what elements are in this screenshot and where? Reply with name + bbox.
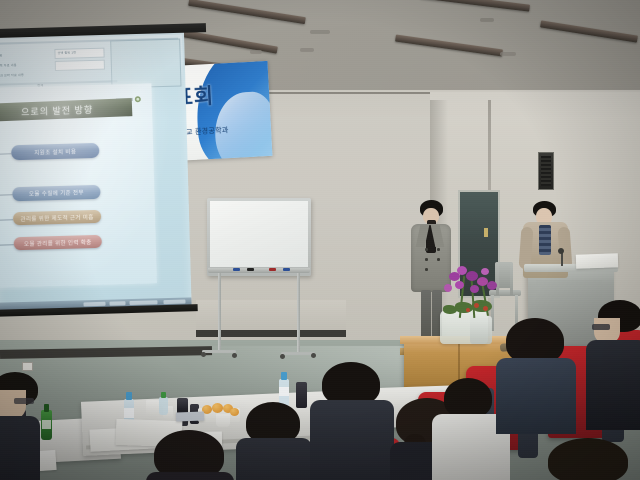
foliage — [443, 305, 457, 314]
podium-papers — [576, 253, 618, 268]
speaker-grille — [541, 156, 551, 186]
flower-vase — [470, 316, 492, 344]
ceiling-light-fixture — [420, 0, 530, 12]
projection-screen[interactable]: 항목 입력 자료 내용 결과 요약 자료 내용 선택 항목 1번 합계 — [0, 30, 198, 325]
whiteboard-frame — [207, 198, 311, 276]
orange-fruit — [212, 403, 223, 413]
dark-beverage-can[interactable] — [296, 382, 307, 408]
whiteboard-surface[interactable] — [210, 201, 308, 267]
coat-button — [437, 248, 440, 251]
app-row-label: 입력 자료 내용 — [0, 63, 17, 68]
flow-connector — [0, 244, 14, 246]
orchid-bloom — [470, 285, 479, 293]
ceiling-vent — [500, 52, 516, 56]
presentation-slide: 으로의 발전 방향 지원조 설치 비용 오물 수질에 기준 전무 관리를 위한 … — [0, 83, 157, 287]
app-field-label: 선택 항목 1번 — [57, 50, 76, 55]
ceiling-vent — [480, 18, 494, 22]
person-torso — [0, 416, 40, 480]
ceiling-light-fixture — [178, 29, 278, 53]
coat-button — [425, 248, 428, 251]
coat-button — [425, 258, 428, 261]
person-torso — [496, 358, 576, 434]
eyeglasses-on-table — [176, 412, 204, 422]
red-accent-flower — [483, 306, 488, 311]
whiteboard-leg — [297, 273, 300, 355]
eyeglasses — [592, 324, 610, 330]
flow-connector — [0, 153, 11, 155]
eyeglasses — [14, 398, 34, 404]
slide-title: 으로의 발전 방향 — [21, 102, 93, 118]
paper-cup[interactable] — [216, 414, 230, 427]
ceiling-light-fixture — [188, 0, 306, 24]
flow-connector — [0, 219, 13, 221]
organization-logo-icon — [116, 90, 142, 98]
flow-box: 관리를 위한 제도적 근거 미흡 — [13, 210, 101, 225]
projected-image-area: 항목 입력 자료 내용 결과 요약 자료 내용 선택 항목 1번 합계 — [0, 30, 192, 310]
orange-fruit — [230, 408, 239, 416]
orchid-bloom — [455, 281, 464, 289]
ceiling-vent — [310, 30, 330, 34]
whiteboard-foot — [281, 352, 315, 355]
person-leg — [421, 290, 431, 342]
person-hair — [548, 438, 628, 480]
person-hair — [444, 378, 492, 418]
chair-frame — [510, 263, 513, 295]
slide-title-bar: 으로의 발전 방향 — [0, 98, 132, 122]
whiteboard-foot — [202, 350, 236, 353]
person-torso — [586, 340, 640, 430]
flow-box: 오물 수질에 기준 전무 — [12, 185, 100, 201]
whiteboard-caster — [201, 352, 206, 357]
person-torso — [146, 472, 234, 480]
app-row-label: 항목 — [0, 54, 3, 58]
whiteboard-caster — [232, 353, 237, 358]
ceiling-vent — [250, 50, 262, 54]
orchid-bloom — [481, 268, 489, 275]
wall-outlet — [22, 362, 33, 371]
flow-box: 지원조 설치 비용 — [11, 143, 99, 160]
ceiling-vent — [300, 48, 314, 52]
marker-red[interactable] — [269, 268, 276, 271]
coat-button — [437, 258, 440, 261]
foliage — [455, 302, 473, 313]
chair-frame — [496, 263, 499, 295]
flow-connector — [0, 194, 12, 196]
marker-blue[interactable] — [283, 268, 290, 271]
background-app-window: 항목 입력 자료 내용 결과 요약 자료 내용 선택 항목 1번 합계 — [0, 34, 183, 91]
red-accent-flower — [474, 303, 479, 308]
flow-box: 오물 관리를 위한 인력 확충 — [14, 235, 102, 250]
person-torso — [310, 400, 394, 480]
coat-button — [425, 268, 428, 271]
whiteboard-marker-tray — [208, 268, 310, 273]
striped-inner-shirt — [539, 225, 551, 255]
presentation-hall-photo: 항목 입력 자료 내용 결과 요약 자료 내용 선택 항목 1번 합계 — [0, 0, 640, 480]
whiteboard-caster — [280, 354, 285, 359]
ceiling-light-fixture — [395, 35, 503, 57]
person-torso — [236, 438, 312, 480]
red-accent-flower — [466, 308, 470, 312]
app-row-label: 결과 요약 자료 내용 — [0, 73, 24, 78]
orchid-bloom — [444, 284, 452, 292]
door-handle[interactable] — [484, 228, 488, 237]
microphone-head-icon — [558, 248, 564, 254]
whiteboard-leg — [218, 273, 221, 353]
marker-black[interactable] — [247, 268, 254, 271]
paper-cup[interactable] — [146, 400, 159, 418]
orchid-bloom — [487, 281, 497, 290]
ceiling-light-fixture — [540, 20, 638, 42]
whiteboard-caster — [311, 353, 316, 358]
microphone-stem — [561, 252, 563, 266]
marker-blue[interactable] — [233, 268, 240, 271]
mobile-whiteboard[interactable] — [207, 198, 313, 358]
